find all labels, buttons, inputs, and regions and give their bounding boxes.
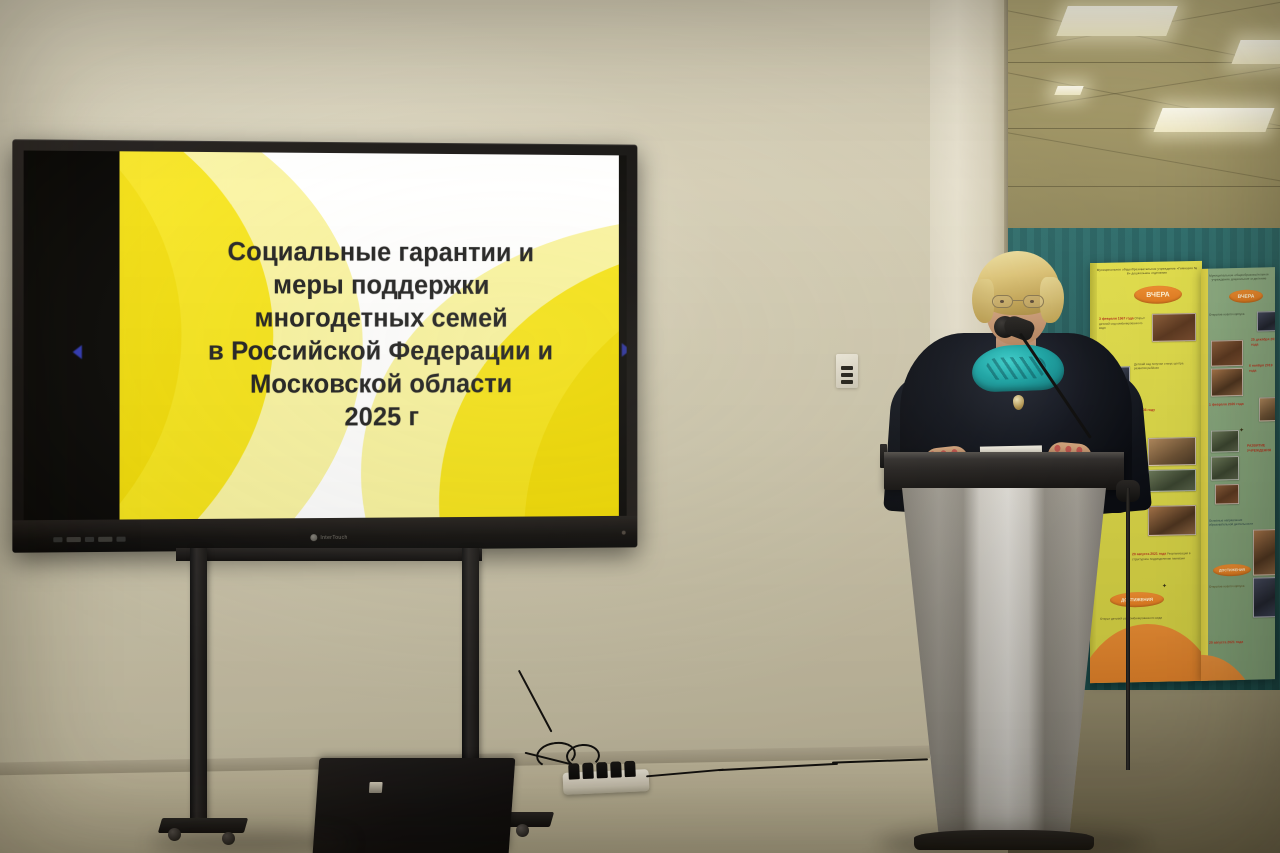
poster-entry-date: 25 декабря 2018 года [1251,337,1275,347]
poster-subsection-title: Основные направления образовательной дея… [1209,518,1257,528]
poster-entry-date: 1 февраля 2020 года [1209,402,1244,407]
poster-photo [1211,430,1239,453]
poster-bubble-achievements: ДОСТИЖЕНИЯ [1213,564,1251,577]
display-bezel: Социальные гарантии и меры поддержки мно… [12,139,637,552]
poster-photo [1211,456,1239,481]
ceiling-light [1153,108,1274,132]
poster-board-teal: Муниципальное общеобразовательное учрежд… [1201,267,1275,681]
poster-entry-body: Открытие нового корпуса [1209,312,1244,317]
poster-photo [1211,368,1243,397]
display-brand-logo: InterTouch [310,534,347,541]
slide-title: Социальные гарантии и меры поддержки мно… [170,235,589,435]
screen-letterbox-right [619,155,627,516]
ceiling-light [1231,40,1280,64]
interactive-display[interactable]: Социальные гарантии и меры поддержки мно… [16,142,642,550]
poster-footer-date: 20 августа 2021 года [1209,639,1269,645]
display-ports[interactable] [53,537,125,543]
arrow-left-icon[interactable] [73,345,82,359]
ceiling-light [1056,6,1178,36]
poster-orange-shape [1201,653,1261,680]
mic-stand-pole [1126,488,1130,770]
stand-crossbar [176,548,482,561]
poster-photo [1253,577,1275,618]
poster-header-text: Муниципальное общеобразовательное учрежд… [1207,272,1271,282]
wall-outlet-panel[interactable] [836,354,858,388]
power-strip[interactable] [563,769,650,795]
presenter-hair-left [972,279,994,323]
poster-entry-date: 20 августа 2021 года [1209,640,1243,645]
poster-entry-text: 25 декабря 2018 года [1251,337,1275,348]
arrow-right-icon[interactable] [622,343,627,357]
boom-microphone [1008,300,1158,770]
presentation-room-photo: Муниципальное общеобразовательное учрежд… [0,0,1280,853]
stand-post-left [190,548,207,828]
poster-photo [1253,529,1275,576]
poster-entry-text: 1 февраля 2020 года [1209,401,1259,407]
stand-shadow [150,830,350,853]
poster-entry-date: 6 ноября 2019 года [1249,363,1272,373]
sparkle-icon: ✦ [1162,584,1167,590]
presentation-slide[interactable]: Социальные гарантии и меры поддержки мно… [120,151,619,519]
poster-photo [1257,311,1275,332]
poster-photo [1259,397,1275,421]
poster-edge [1201,269,1208,681]
case-latch [369,782,383,793]
ceiling-light [1054,86,1083,95]
poster-entry-text: Открытие нового корпуса [1209,312,1253,317]
poster-photo [1211,340,1243,367]
display-screen[interactable]: Социальные гарантии и меры поддержки мно… [24,150,627,520]
poster-section-title: РАЗВИТИЕ УЧРЕЖДЕНИЯ [1247,443,1275,454]
brand-label: InterTouch [320,534,347,540]
sparkle-icon: ✦ [1239,428,1244,434]
poster-entry-text: 6 ноября 2019 года [1249,363,1275,374]
poster-photo [1152,313,1196,342]
poster-bubble-yesterday: ВЧЕРА [1229,289,1263,303]
screen-letterbox-left [24,150,120,520]
caster-wheel [516,824,529,837]
poster-photo [1215,484,1239,505]
mic-boom-arm [1019,333,1092,439]
power-indicator-icon [622,531,626,535]
brand-mark-icon [310,534,317,541]
poster-footer-text: Открытие нового корпуса [1209,584,1249,589]
suspended-ceiling [1006,0,1280,250]
poster-footer-body: Открытие нового корпуса [1209,584,1244,589]
